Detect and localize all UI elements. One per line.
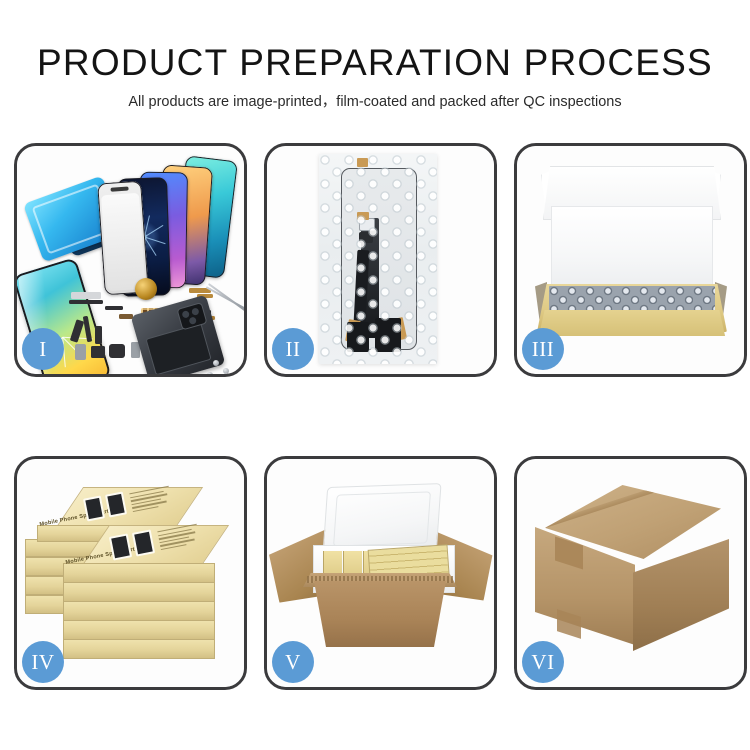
step-5-image: V bbox=[267, 459, 494, 687]
step-panel-5[interactable]: V bbox=[264, 456, 497, 690]
step-panel-1[interactable]: I bbox=[14, 143, 247, 377]
step-badge-6: VI bbox=[522, 641, 564, 683]
product-preparation-infographic: PRODUCT PREPARATION PROCESS All products… bbox=[0, 0, 750, 750]
step-badge-3: III bbox=[522, 328, 564, 370]
screw-icon bbox=[213, 360, 219, 366]
page-title: PRODUCT PREPARATION PROCESS bbox=[0, 42, 750, 84]
step-1-image: I bbox=[17, 146, 244, 374]
vibration-motor-icon bbox=[135, 278, 157, 300]
step-6-image: VI bbox=[517, 459, 744, 687]
stacked-boxes-icon: Mobile Phone Spare Parts Mobile Phone Sp… bbox=[23, 481, 237, 671]
bubble-wrap-bag-icon bbox=[319, 154, 437, 364]
step-2-image: II bbox=[267, 146, 494, 374]
step-badge-4: IV bbox=[22, 641, 64, 683]
step-badge-5: V bbox=[272, 641, 314, 683]
step-panel-2[interactable]: II bbox=[264, 143, 497, 377]
page-subtitle: All products are image-printed，film-coat… bbox=[0, 90, 750, 111]
sealed-carton-icon bbox=[535, 485, 731, 663]
step-panel-6[interactable]: VI bbox=[514, 456, 747, 690]
carton-front-icon bbox=[305, 581, 455, 647]
step-badge-1: I bbox=[22, 328, 64, 370]
step-badge-2: II bbox=[272, 328, 314, 370]
screw-icon bbox=[223, 368, 229, 374]
step-3-image: III bbox=[517, 146, 744, 374]
process-step-grid: I II bbox=[0, 136, 750, 696]
phone-screen-fan bbox=[101, 156, 244, 306]
step-4-image: Mobile Phone Spare Parts Mobile Phone Sp… bbox=[17, 459, 244, 687]
screw-icon bbox=[207, 372, 213, 374]
header: PRODUCT PREPARATION PROCESS All products… bbox=[0, 0, 750, 130]
step-panel-4[interactable]: Mobile Phone Spare Parts Mobile Phone Sp… bbox=[14, 456, 247, 690]
open-box-with-foam-icon bbox=[529, 166, 733, 341]
carton-with-foam-insert-icon bbox=[277, 481, 485, 671]
step-panel-3[interactable]: III bbox=[514, 143, 747, 377]
foam-sheet-icon bbox=[551, 206, 713, 290]
